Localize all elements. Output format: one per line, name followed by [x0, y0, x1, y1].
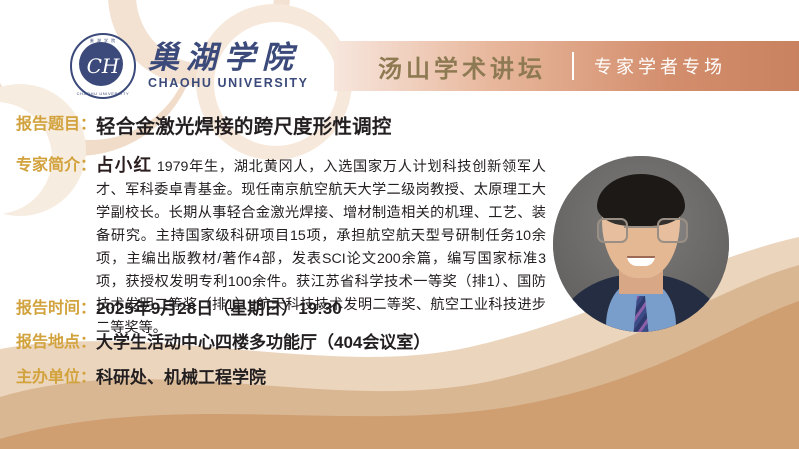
report-title-value: 轻合金激光焊接的跨尺度形性调控 — [96, 110, 392, 139]
report-title-label: 报告题目： — [16, 110, 96, 134]
emblem-ring-bottom-text: CHAOHU UNIVERSITY — [77, 91, 130, 96]
report-place-value: 大学生活动中心四楼多功能厅（404会议室） — [96, 328, 430, 353]
speaker-photo — [553, 156, 729, 332]
emblem-monogram: CH — [72, 35, 134, 97]
organizer-label: 主办单位： — [16, 363, 96, 387]
banner-divider — [572, 52, 574, 80]
university-emblem-icon: 巢 湖 学 院 CH CHAOHU UNIVERSITY — [70, 33, 136, 99]
university-name-en: CHAOHU UNIVERSITY — [148, 76, 309, 90]
university-logo: 巢 湖 学 院 CH CHAOHU UNIVERSITY 巢湖学院 CHAOHU… — [70, 33, 309, 99]
university-name-cn: 巢湖学院 — [148, 42, 309, 75]
header-banner: 汤山学术讲坛 专家学者专场 — [334, 41, 799, 91]
report-title-row: 报告题目： 轻合金激光焊接的跨尺度形性调控 — [16, 110, 392, 139]
lecture-poster: 汤山学术讲坛 专家学者专场 巢 湖 学 院 CH CHAOHU UNIVERSI… — [0, 0, 799, 449]
speaker-bio-label: 专家简介： — [16, 151, 96, 175]
speaker-name: 占小红 — [96, 155, 152, 175]
organizer-value: 科研处、机械工程学院 — [96, 363, 266, 388]
report-time-row: 报告时间： 2025年9月28日（星期日）19:30 — [16, 294, 342, 319]
report-place-row: 报告地点： 大学生活动中心四楼多功能厅（404会议室） — [16, 328, 430, 353]
report-time-value: 2025年9月28日（星期日）19:30 — [96, 294, 342, 319]
banner-title: 汤山学术讲坛 — [378, 49, 546, 84]
banner-subtitle: 专家学者专场 — [594, 53, 726, 79]
report-time-label: 报告时间： — [16, 294, 96, 318]
report-place-label: 报告地点： — [16, 328, 96, 352]
organizer-row: 主办单位： 科研处、机械工程学院 — [16, 363, 266, 388]
